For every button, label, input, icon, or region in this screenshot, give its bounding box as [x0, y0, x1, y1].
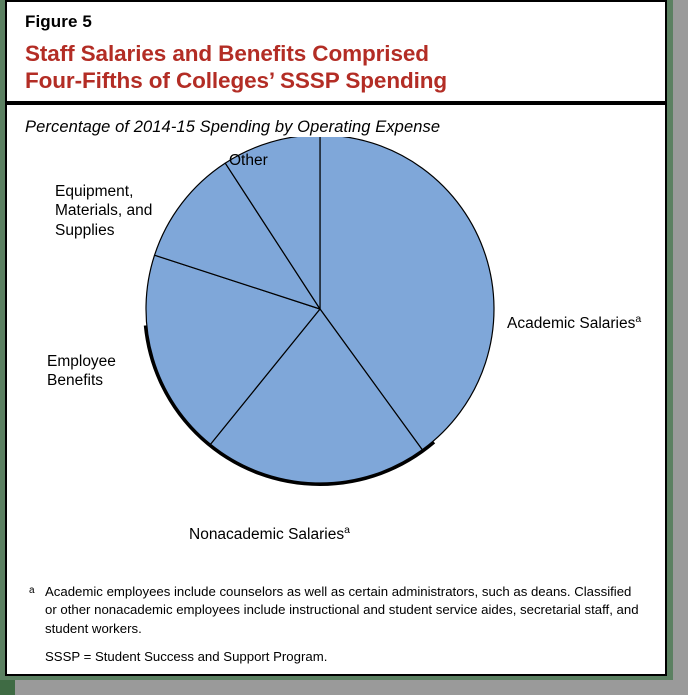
- pie-label-nonacademic-salaries: Nonacademic Salariesa: [189, 525, 350, 545]
- footnote-abbreviation-note: SSSP = Student Success and Support Progr…: [29, 649, 643, 664]
- footnotes-block: a Academic employees include counselors …: [7, 583, 665, 664]
- pie-slices: [146, 137, 494, 483]
- pie-label-nonacademic-salaries-footnote-marker: a: [344, 523, 350, 535]
- figure-subtitle: Percentage of 2014-15 Spending by Operat…: [7, 105, 665, 137]
- pie-chart-area: Other Equipment, Materials, and Supplies…: [7, 137, 665, 557]
- footnote-marker-a: a: [29, 583, 45, 598]
- pie-label-academic-salaries: Academic Salariesa: [507, 314, 641, 334]
- pie-label-employee-benefits: Employee Benefits: [47, 352, 116, 392]
- horizontal-scrollbar[interactable]: [15, 680, 688, 695]
- pie-label-equipment-materials-supplies: Equipment, Materials, and Supplies: [55, 182, 152, 241]
- figure-title-line-1: Staff Salaries and Benefits Comprised: [25, 41, 647, 68]
- pie-label-academic-salaries-text: Academic Salaries: [507, 315, 635, 332]
- document-viewport: Figure 5 Staff Salaries and Benefits Com…: [0, 0, 688, 695]
- footnote-a: a Academic employees include counselors …: [29, 583, 643, 638]
- pie-label-nonacademic-salaries-text: Nonacademic Salaries: [189, 526, 344, 543]
- figure-number: Figure 5: [25, 12, 647, 32]
- figure-header: Figure 5 Staff Salaries and Benefits Com…: [7, 2, 665, 105]
- figure-title-line-2: Four-Fifths of Colleges’ SSSP Spending: [25, 68, 647, 95]
- vertical-scrollbar[interactable]: [673, 0, 688, 680]
- footnote-a-text: Academic employees include counselors as…: [45, 583, 643, 638]
- pie-label-academic-salaries-footnote-marker: a: [635, 312, 641, 324]
- scrollbar-corner: [0, 680, 15, 695]
- figure-container: Figure 5 Staff Salaries and Benefits Com…: [5, 0, 667, 676]
- pie-label-other: Other: [229, 151, 268, 171]
